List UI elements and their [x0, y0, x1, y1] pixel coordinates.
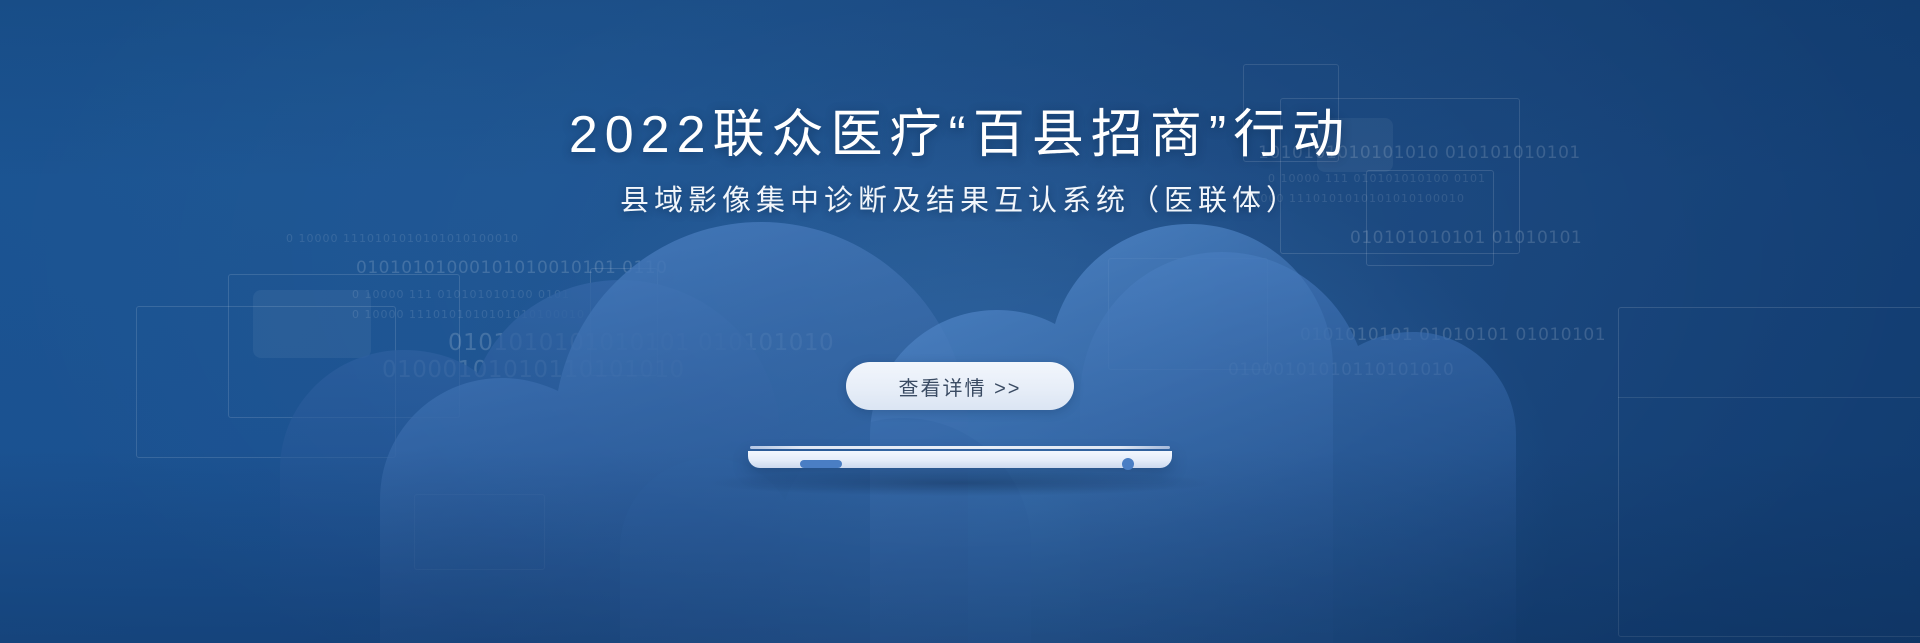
- device-home-button-icon: [1122, 458, 1134, 470]
- device-body: [748, 451, 1172, 468]
- tablet-device: [748, 446, 1172, 472]
- device-top-edge: [750, 446, 1170, 449]
- promo-banner: 1010101010101010 010101010101 0 10000 11…: [0, 0, 1920, 643]
- banner-text-block: 2022联众医疗“百县招商”行动 县域影像集中诊断及结果互认系统（医联体）: [0, 0, 1920, 219]
- page-subtitle: 县域影像集中诊断及结果互认系统（医联体）: [0, 164, 1920, 219]
- view-details-button[interactable]: 查看详情 >>: [846, 362, 1074, 410]
- device-speaker-icon: [800, 460, 842, 468]
- page-title: 2022联众医疗“百县招商”行动: [0, 0, 1920, 164]
- cta-container: 查看详情 >>: [0, 362, 1920, 410]
